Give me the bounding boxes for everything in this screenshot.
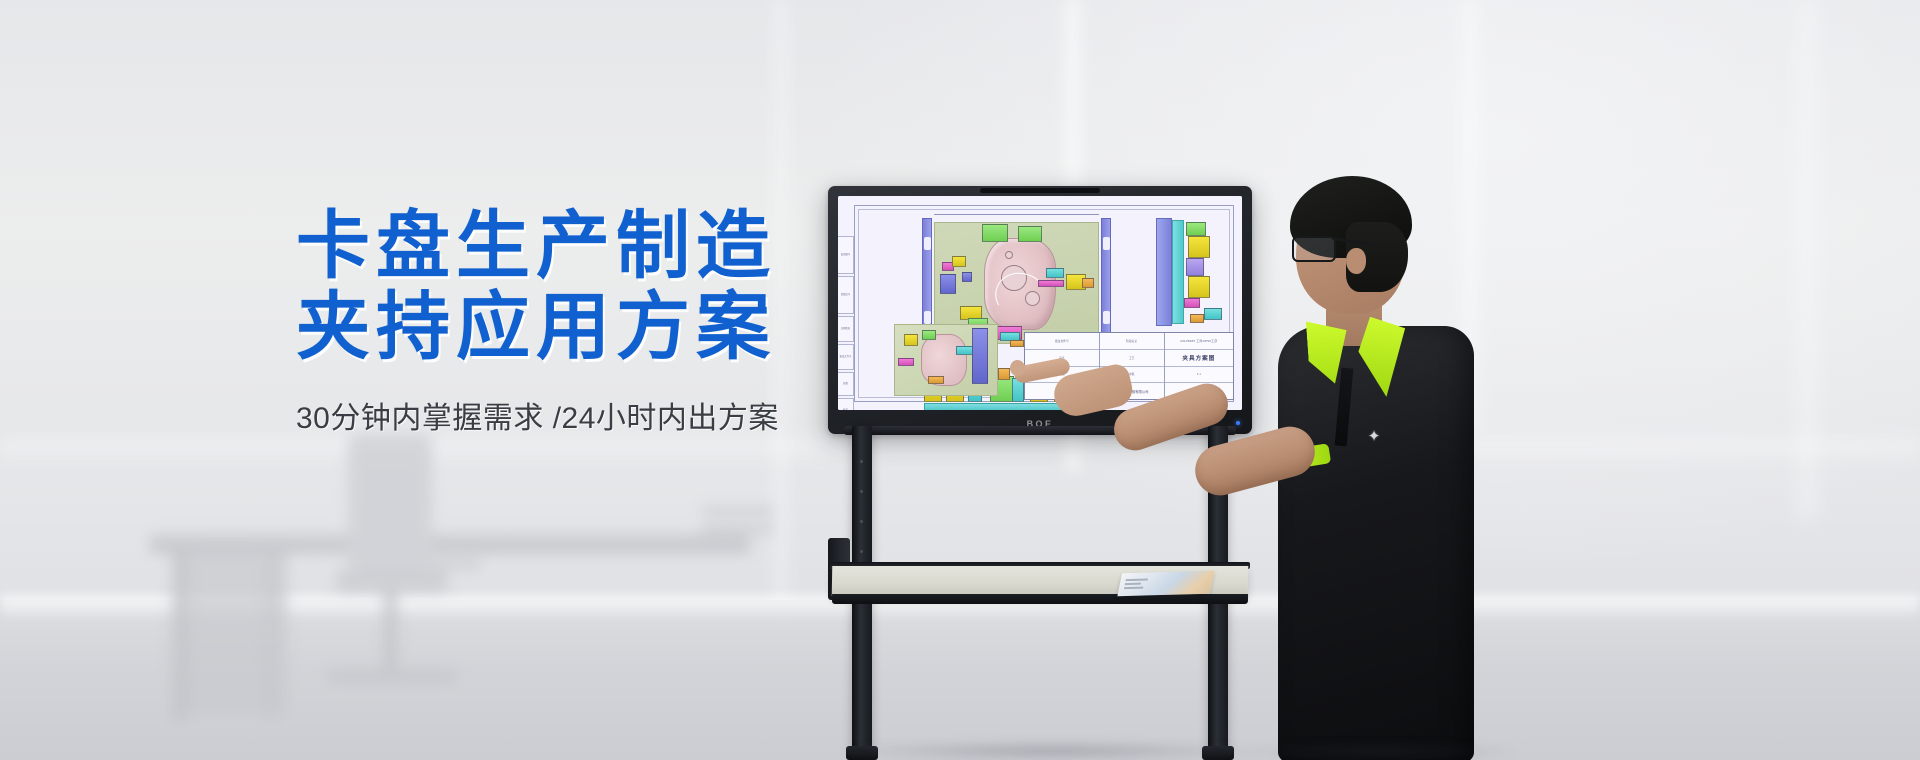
eyeglasses-icon xyxy=(1292,236,1336,262)
desk-leg xyxy=(265,550,277,718)
clamp-unit xyxy=(898,358,914,366)
fingertip xyxy=(1010,360,1025,376)
brochure-text-line xyxy=(1126,578,1148,580)
chair-slat xyxy=(702,508,774,515)
clamp-unit xyxy=(922,330,936,340)
hero-banner: 卡盘生产制造 夹持应用方案 30分钟内掌握需求 /24小时内出方案 旧底图号 底… xyxy=(0,0,1920,760)
clamp-unit xyxy=(998,368,1010,380)
office-chair-back xyxy=(348,434,432,570)
camera-bar-icon xyxy=(980,188,1100,193)
tb-header: 更改文件号 xyxy=(1025,333,1099,350)
brochure-text-line xyxy=(1124,587,1143,589)
office-chair-seat xyxy=(336,570,448,592)
side-plate xyxy=(972,328,988,384)
rail-slot xyxy=(924,237,931,250)
presenter-ear xyxy=(1346,248,1366,274)
mount-hole xyxy=(860,520,863,523)
guide-rail xyxy=(1101,218,1111,348)
clamp-unit xyxy=(1010,340,1024,347)
clamp-unit xyxy=(1046,268,1064,278)
desk-leg xyxy=(172,550,189,720)
stand-contact-shadow xyxy=(836,742,1266,760)
clamp-unit xyxy=(940,274,956,294)
presenter-contact-shadow xyxy=(1240,744,1520,760)
locator-pin xyxy=(962,272,972,282)
cad-left-tab: 旧底图号 xyxy=(838,236,854,274)
clamp-unit xyxy=(952,256,966,267)
chair-gas-lift xyxy=(384,590,397,676)
cad-left-tab: 标记 xyxy=(838,398,854,410)
rail-slot xyxy=(1103,237,1110,250)
bore-hole xyxy=(1005,251,1013,259)
presenter: ✦ xyxy=(1150,170,1570,760)
rail-slot xyxy=(924,311,931,324)
clamp-unit xyxy=(1082,278,1094,288)
presenter-torso xyxy=(1278,326,1474,760)
brochure-text-line xyxy=(1125,583,1141,585)
mount-hole xyxy=(860,460,863,463)
desk-edge xyxy=(150,546,750,553)
cad-left-tab: 日期签名 xyxy=(838,316,854,342)
clamp-unit xyxy=(982,224,1008,242)
mount-hole xyxy=(860,490,863,493)
background-office-furniture xyxy=(0,430,820,760)
clamp-unit xyxy=(1018,226,1042,242)
clamp-unit xyxy=(1038,280,1064,287)
rail-slot xyxy=(1103,311,1110,324)
chair-base xyxy=(326,670,458,683)
mount-hole xyxy=(860,550,863,553)
chair-armrest xyxy=(430,560,482,569)
cad-view-isometric xyxy=(894,324,998,396)
cad-left-tab: 更改文件号 xyxy=(838,344,854,370)
chest-logo-icon: ✦ xyxy=(1365,428,1383,446)
contour-arc xyxy=(989,266,1053,326)
cad-left-tab: 处数 xyxy=(838,372,854,396)
clamp-unit xyxy=(928,376,944,384)
cad-left-tab: 底图总号 xyxy=(838,276,854,314)
clamp-unit xyxy=(904,334,918,346)
chair-slat xyxy=(702,526,774,533)
headline-line-1: 卡盘生产制造 xyxy=(296,204,776,287)
dimension-line xyxy=(934,214,1099,215)
